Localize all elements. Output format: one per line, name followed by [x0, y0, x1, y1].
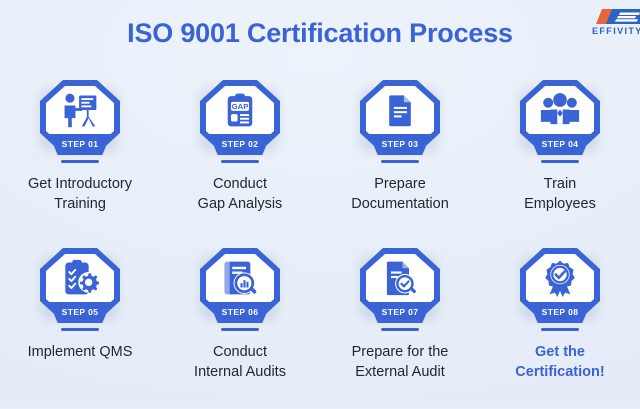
caption-line-2: Documentation	[351, 196, 449, 212]
step-card-6[interactable]: STEP 06 Conduct Internal Audits	[160, 242, 320, 409]
badge-underline	[61, 160, 99, 163]
step-number-label: STEP 04	[542, 140, 579, 150]
caption-line-1: Train	[544, 176, 577, 192]
caption-line-1: Get the	[535, 344, 585, 360]
steps-row-1: STEP 01 Get Introductory Training	[0, 74, 640, 241]
step-number-band-2: STEP 02	[209, 134, 271, 155]
step-number-label: STEP 01	[62, 140, 99, 150]
caption-line-1: Prepare for the	[352, 344, 449, 360]
steps-row-2: STEP 05 Implement QMS	[0, 242, 640, 409]
step-card-4[interactable]: STEP 04 Train Employees	[480, 74, 640, 241]
step-badge-1: STEP 01	[38, 78, 122, 170]
caption-line-2: External Audit	[355, 364, 444, 380]
badge-underline	[541, 328, 579, 331]
step-number-label: STEP 05	[62, 308, 99, 318]
step-badge-8: STEP 08	[518, 246, 602, 338]
step-badge-6: STEP 06	[198, 246, 282, 338]
badge-underline	[541, 160, 579, 163]
brand-wordmark: EFFIVITY	[592, 26, 640, 36]
step-caption-3: Prepare Documentation	[324, 174, 476, 214]
step-caption-2: Conduct Gap Analysis	[164, 174, 316, 214]
step-number-label: STEP 06	[222, 308, 259, 318]
badge-underline	[381, 160, 419, 163]
caption-line-1: Implement QMS	[28, 344, 133, 360]
step-caption-1: Get Introductory Training	[4, 174, 156, 214]
step-number-label: STEP 02	[222, 140, 259, 150]
step-card-8[interactable]: STEP 08 Get the Certification!	[480, 242, 640, 409]
step-number-band-8: STEP 08	[529, 302, 591, 323]
step-card-5[interactable]: STEP 05 Implement QMS	[0, 242, 160, 409]
step-caption-4: Train Employees	[484, 174, 636, 214]
step-number-label: STEP 08	[542, 308, 579, 318]
caption-line-2: Gap Analysis	[198, 196, 283, 212]
step-number-band-1: STEP 01	[49, 134, 111, 155]
step-number-band-3: STEP 03	[369, 134, 431, 155]
step-caption-8: Get the Certification!	[484, 342, 636, 382]
caption-line-1: Conduct	[213, 344, 267, 360]
document-magnifier-check-icon	[378, 256, 422, 300]
step-badge-4: STEP 04	[518, 78, 602, 170]
step-caption-6: Conduct Internal Audits	[164, 342, 316, 382]
badge-underline	[221, 160, 259, 163]
step-card-1[interactable]: STEP 01 Get Introductory Training	[0, 74, 160, 241]
caption-line-2: Certification!	[515, 364, 604, 380]
badge-underline	[221, 328, 259, 331]
step-caption-5: Implement QMS	[4, 342, 156, 362]
caption-line-1: Get Introductory	[28, 176, 132, 192]
caption-line-1: Conduct	[213, 176, 267, 192]
step-caption-7: Prepare for the External Audit	[324, 342, 476, 382]
badge-underline	[381, 328, 419, 331]
report-magnifier-chart-icon	[218, 256, 262, 300]
infographic-page: ISO 9001 Certification Process EFFIVITY	[0, 0, 640, 407]
group-people-icon	[538, 88, 582, 132]
step-number-band-7: STEP 07	[369, 302, 431, 323]
gap-clipboard-icon: GAP	[218, 88, 262, 132]
badge-underline	[61, 328, 99, 331]
presenter-flipchart-icon	[58, 88, 102, 132]
step-card-7[interactable]: STEP 07 Prepare for the External Audit	[320, 242, 480, 409]
effivity-arrow-logo-icon	[596, 8, 640, 25]
step-card-2[interactable]: GAP STEP 02 Conduct Gap Analysis	[160, 74, 320, 241]
caption-line-1: Prepare	[374, 176, 426, 192]
step-number-label: STEP 07	[382, 308, 419, 318]
caption-line-2: Employees	[524, 196, 596, 212]
step-number-band-4: STEP 04	[529, 134, 591, 155]
header: ISO 9001 Certification Process EFFIVITY	[0, 0, 640, 70]
brand-logo: EFFIVITY	[590, 8, 640, 42]
step-number-band-6: STEP 06	[209, 302, 271, 323]
step-number-band-5: STEP 05	[49, 302, 111, 323]
step-badge-7: STEP 07	[358, 246, 442, 338]
caption-line-2: Internal Audits	[194, 364, 286, 380]
checklist-gear-icon	[58, 256, 102, 300]
gap-icon-text: GAP	[232, 102, 249, 111]
document-page-icon	[378, 88, 422, 132]
caption-line-2: Training	[54, 196, 106, 212]
step-number-label: STEP 03	[382, 140, 419, 150]
step-card-3[interactable]: STEP 03 Prepare Documentation	[320, 74, 480, 241]
step-badge-2: GAP STEP 02	[198, 78, 282, 170]
step-badge-5: STEP 05	[38, 246, 122, 338]
certified-badge-rosette-icon	[538, 256, 582, 300]
steps-grid: STEP 01 Get Introductory Training	[0, 74, 640, 407]
step-badge-3: STEP 03	[358, 78, 442, 170]
page-title: ISO 9001 Certification Process	[0, 18, 640, 49]
